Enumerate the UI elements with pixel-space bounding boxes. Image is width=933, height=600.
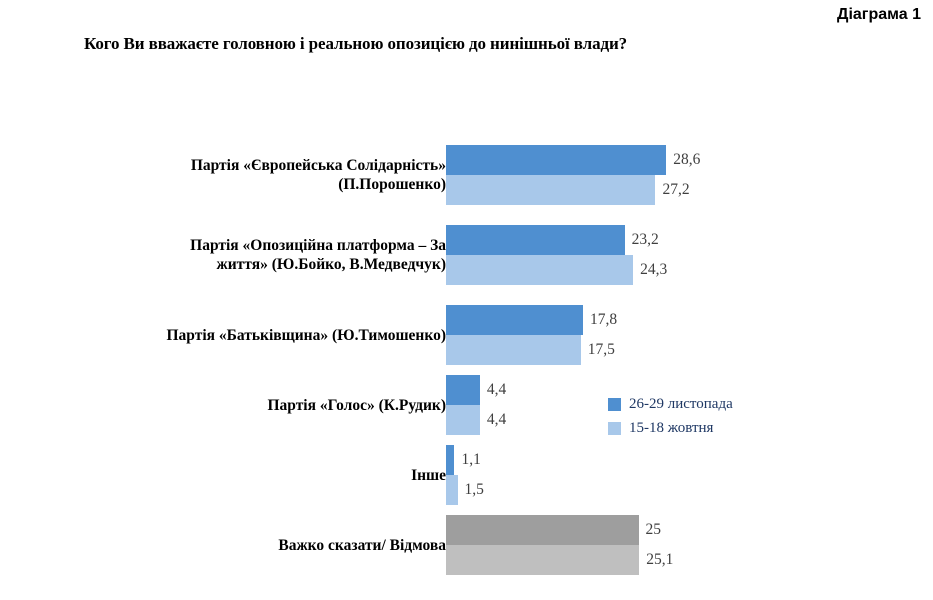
bar-value-label: 27,2 [655,181,689,199]
bar-row: 25,1 [446,545,797,575]
bar-row: 28,6 [446,145,797,175]
legend-item: 26-29 листопада [608,392,733,416]
category-label-line: Партія «Опозиційна платформа – За [26,236,446,255]
category-label-line: Партія «Європейська Солідарність» [26,156,446,175]
bar-value-label: 23,2 [625,231,659,249]
category-label-line: Партія «Батьківщина» (Ю.Тимошенко) [26,326,446,345]
category-label: Партія «Голос» (К.Рудик) [26,396,446,415]
bar-row: 27,2 [446,175,797,205]
bar-value-label: 25,1 [639,551,673,569]
bar [446,445,454,475]
bar [446,475,458,505]
bar-row: 23,2 [446,225,797,255]
category-label: Інше [26,466,446,485]
category-label: Важко сказати/ Відмова [26,536,446,555]
legend-swatch [608,422,621,435]
bar-row: 25 [446,515,797,545]
bar-row: 17,5 [446,335,797,365]
bar-value-label: 25 [639,521,662,539]
bar-value-label: 1,5 [458,481,484,499]
bar [446,305,583,335]
bar-value-label: 28,6 [666,151,700,169]
category-label-line: життя» (Ю.Бойко, В.Медведчук) [26,255,446,274]
category-label: Партія «Батьківщина» (Ю.Тимошенко) [26,326,446,345]
bar-row: 1,1 [446,445,797,475]
category-label-line: Інше [26,466,446,485]
legend-item: 15-18 жовтня [608,416,733,440]
bar [446,545,639,575]
category-label: Партія «Опозиційна платформа – Зажиття» … [26,236,446,274]
bar-value-label: 1,1 [454,451,480,469]
category-label-line: Важко сказати/ Відмова [26,536,446,555]
bar-row: 17,8 [446,305,797,335]
bar-row: 1,5 [446,475,797,505]
chart-caption: Діаграма 1 [837,6,921,24]
legend-label: 26-29 листопада [629,396,733,413]
bar-value-label: 17,8 [583,311,617,329]
bar [446,175,655,205]
bar [446,335,581,365]
bar-value-label: 24,3 [633,261,667,279]
bar [446,375,480,405]
legend-swatch [608,398,621,411]
bar-value-label: 4,4 [480,411,506,429]
bar [446,225,625,255]
category-label: Партія «Європейська Солідарність»(П.Поро… [26,156,446,194]
bar-chart-plot: Партія «Європейська Солідарність»(П.Поро… [0,130,933,590]
bar [446,515,639,545]
legend-label: 15-18 жовтня [629,420,713,437]
bar [446,405,480,435]
bar [446,145,666,175]
category-label-line: Партія «Голос» (К.Рудик) [26,396,446,415]
chart-legend: 26-29 листопада15-18 жовтня [608,392,733,440]
page-title: Кого Ви вважаєте головною і реальною опо… [84,34,627,54]
bar-value-label: 4,4 [480,381,506,399]
bar-row: 24,3 [446,255,797,285]
bar-value-label: 17,5 [581,341,615,359]
bar [446,255,633,285]
category-label-line: (П.Порошенко) [26,175,446,194]
